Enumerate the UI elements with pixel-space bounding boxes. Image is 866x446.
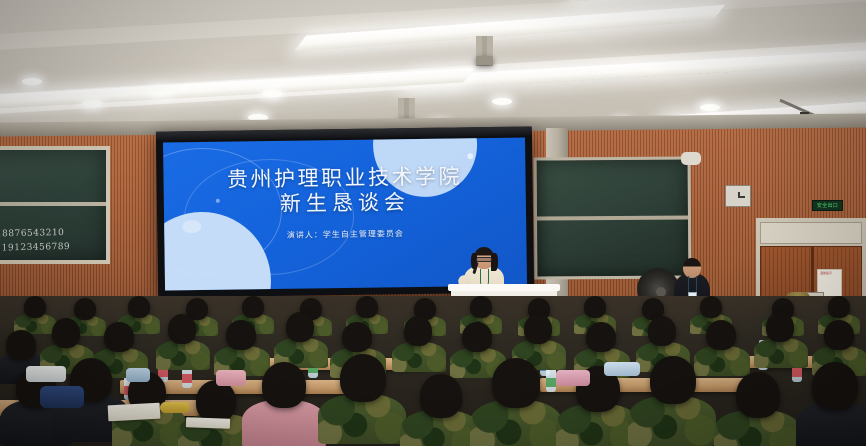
blue-backpack — [40, 386, 84, 408]
student-head — [766, 312, 794, 342]
chalk-text-line-2: 杨永秋 18876543210 — [0, 225, 64, 240]
student-head — [262, 362, 306, 408]
staff-head — [683, 258, 701, 278]
student-head — [196, 380, 236, 422]
student-head — [492, 358, 540, 408]
student-head — [700, 296, 722, 318]
open-notebook — [186, 417, 230, 429]
student-head — [524, 314, 552, 344]
exit-sign: 安全出口 — [812, 200, 843, 211]
student-shoulders — [754, 338, 808, 368]
student-head — [824, 320, 854, 350]
student-head — [586, 322, 616, 352]
student-head — [226, 320, 256, 350]
ceiling-downlight — [22, 78, 42, 85]
ceiling-downlight — [700, 104, 720, 111]
student-head — [420, 374, 462, 418]
ceiling-downlight — [492, 98, 512, 105]
stacked-books — [108, 403, 161, 422]
ceiling-downlight — [82, 100, 102, 107]
door-transom-window — [760, 222, 862, 244]
exit-sign-label: 安全出口 — [817, 202, 838, 209]
presenter-glasses — [476, 257, 492, 262]
bottle-label — [792, 368, 802, 377]
student-head — [706, 320, 736, 350]
student-head — [286, 312, 314, 342]
student-head — [104, 322, 134, 352]
student-head — [242, 296, 264, 318]
projector-pole — [404, 98, 409, 120]
chalk-text-line-3: 何 飞 19123456789 — [0, 239, 70, 254]
smoke-detector-icon — [681, 152, 701, 165]
ceiling-projector-mount — [476, 36, 493, 66]
blackboard-rail — [0, 202, 106, 206]
student-head — [736, 372, 780, 418]
student-head — [584, 296, 606, 318]
podium-top-surface — [448, 284, 560, 291]
clock-minute-hand — [739, 196, 745, 198]
student-head — [168, 314, 196, 344]
student-shoulders — [694, 346, 750, 376]
lecture-hall-photo: 会室 杨永秋 18876543210 何 飞 19123456789 安全出口 … — [0, 0, 866, 446]
student-head — [648, 316, 676, 346]
student-head — [24, 296, 46, 318]
bottle-label — [182, 374, 192, 383]
student-head — [650, 356, 696, 404]
projector-pole — [482, 36, 487, 58]
face-mask — [126, 368, 150, 382]
student-head — [6, 330, 36, 360]
student-head — [470, 296, 492, 318]
pink-pencil-case — [216, 370, 246, 386]
student-head — [404, 316, 432, 346]
audience-area — [0, 296, 866, 446]
blue-folder — [604, 362, 640, 376]
student-head — [128, 296, 150, 318]
presenter-hair — [491, 253, 498, 271]
blackboard-left: 会室 杨永秋 18876543210 何 飞 19123456789 — [0, 146, 110, 264]
student-head — [340, 354, 386, 402]
projector-head — [476, 56, 493, 65]
student-shoulders — [392, 342, 446, 372]
student-head — [812, 362, 858, 410]
snack-bread — [160, 402, 190, 413]
student-head — [74, 298, 96, 320]
slide-title: 贵州护理职业技术学院 新生恳谈会 — [163, 163, 526, 218]
student-head — [828, 296, 850, 318]
wall-clock — [725, 185, 751, 207]
pink-pouch — [556, 370, 590, 386]
slide-dot-decoration — [467, 153, 473, 159]
student-shoulders — [156, 340, 210, 370]
blackboard-rail — [537, 215, 688, 220]
student-head — [52, 318, 80, 348]
student-head — [356, 296, 378, 318]
white-notebook — [26, 366, 66, 382]
ceiling-downlight — [150, 88, 170, 95]
bottle-label — [546, 378, 556, 387]
student-head — [462, 322, 492, 352]
slide-title-line-2: 新生恳谈会 — [164, 188, 526, 218]
student-head — [342, 322, 372, 352]
blackboard-right — [534, 156, 692, 279]
ceiling-downlight — [262, 90, 282, 97]
